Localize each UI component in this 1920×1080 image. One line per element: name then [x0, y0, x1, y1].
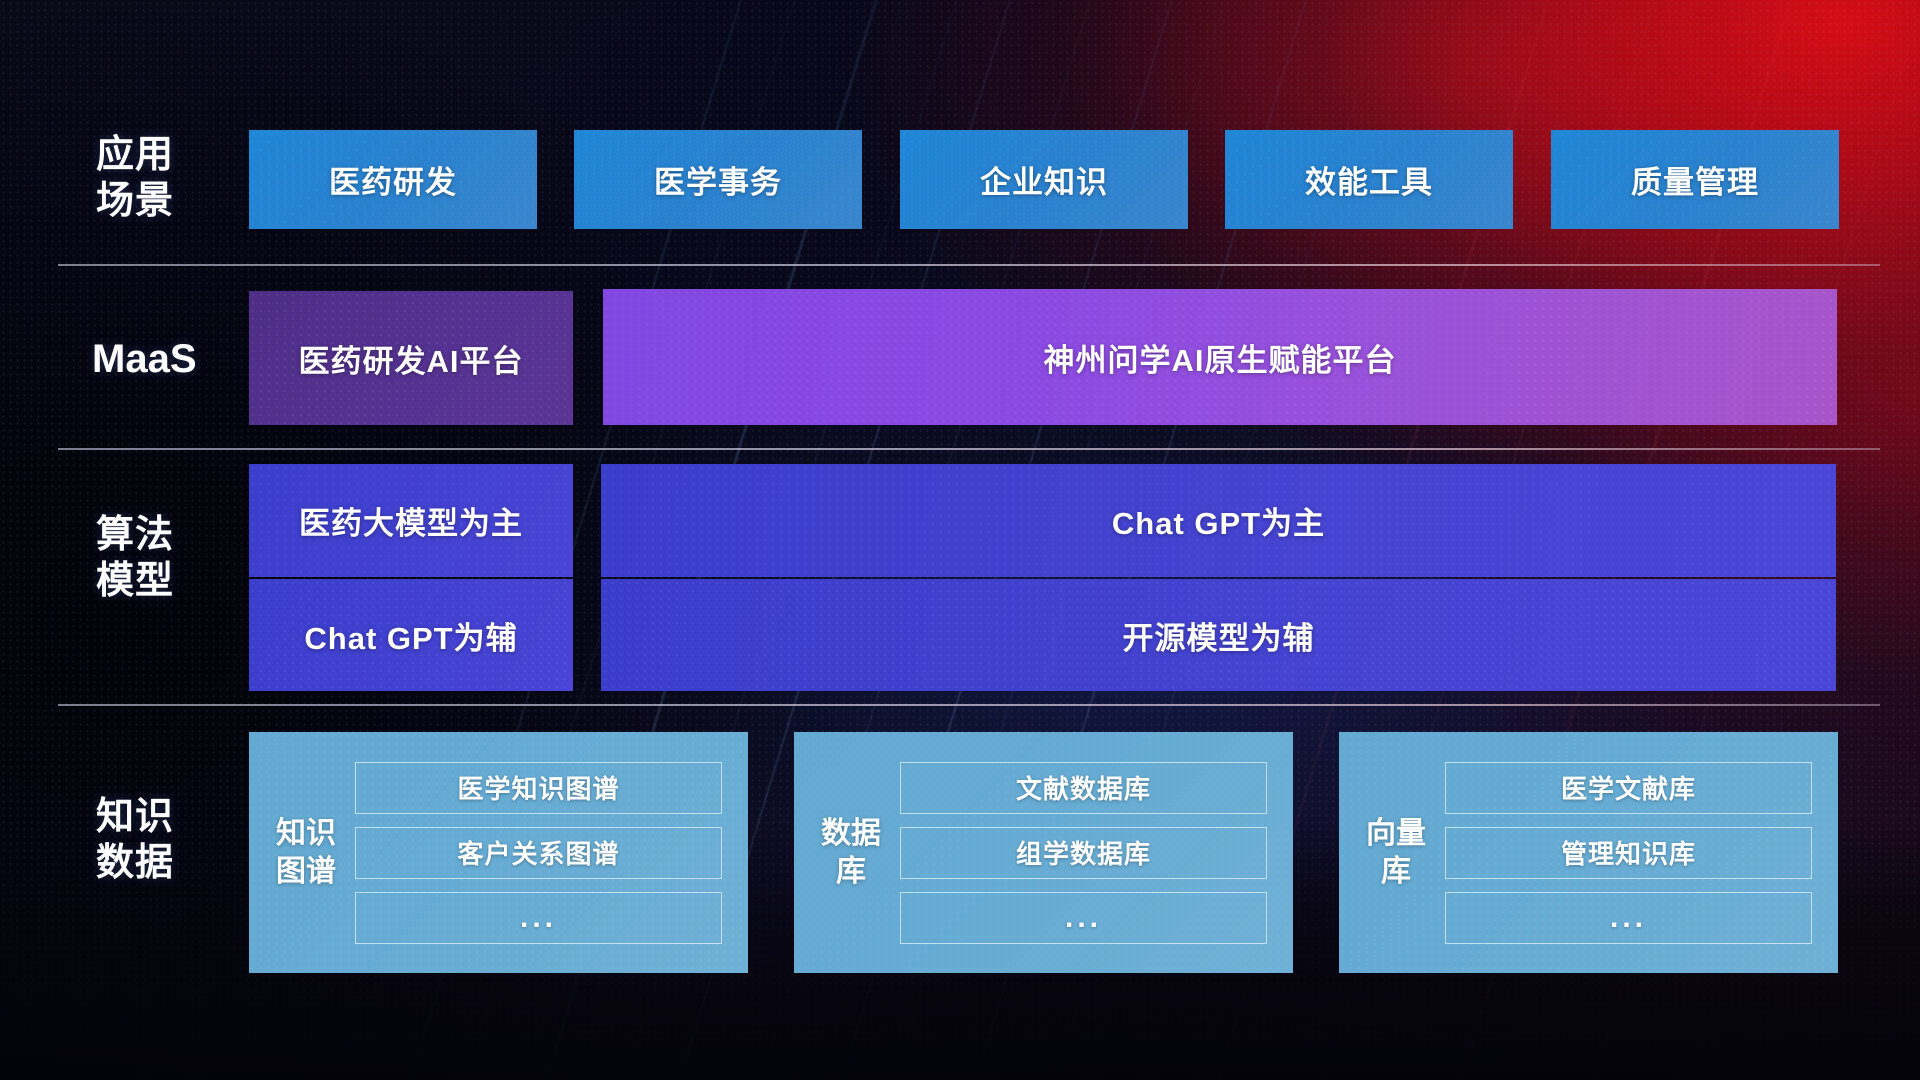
knowledge-item-more[interactable]: ...: [1445, 892, 1812, 944]
row-separator-3: [58, 704, 1880, 706]
app-card-medicine-rd[interactable]: 医药研发: [249, 130, 537, 229]
maas-card-label: 医药研发AI平台: [299, 336, 524, 381]
app-card-label: 医药研发: [329, 157, 457, 202]
knowledge-item-more[interactable]: ...: [900, 892, 1267, 944]
app-card-quality-management[interactable]: 质量管理: [1551, 130, 1839, 229]
knowledge-group-vector[interactable]: 向量库 医学文献库 管理知识库 ...: [1339, 732, 1838, 973]
algo-card-label: 医药大模型为主: [299, 498, 523, 543]
knowledge-item-label: 医学知识图谱: [457, 769, 619, 806]
knowledge-group-items: 文献数据库 组学数据库 ...: [882, 741, 1293, 965]
app-card-label: 质量管理: [1631, 157, 1759, 202]
knowledge-item-more[interactable]: ...: [355, 892, 722, 944]
app-card-medical-affairs[interactable]: 医学事务: [574, 130, 862, 229]
knowledge-item-label: 组学数据库: [1016, 834, 1151, 871]
knowledge-item-label: 管理知识库: [1561, 834, 1696, 871]
row-label-algorithm: 算法 模型: [96, 512, 236, 605]
app-card-enterprise-knowledge[interactable]: 企业知识: [900, 130, 1188, 229]
knowledge-group-graph[interactable]: 知识图谱 医学知识图谱 客户关系图谱 ...: [249, 732, 748, 973]
knowledge-item[interactable]: 文献数据库: [900, 762, 1267, 814]
algo-card-medicine-llm-primary[interactable]: 医药大模型为主: [249, 464, 573, 577]
row-label-application: 应用 场景: [96, 132, 236, 225]
row-label-maas: MaaS: [92, 335, 272, 384]
knowledge-item[interactable]: 组学数据库: [900, 827, 1267, 879]
maas-card-medicine-ai-platform[interactable]: 医药研发AI平台: [249, 291, 573, 425]
knowledge-item[interactable]: 管理知识库: [1445, 827, 1812, 879]
app-card-efficiency-tools[interactable]: 效能工具: [1225, 130, 1513, 229]
knowledge-item-label: ...: [1065, 901, 1102, 935]
knowledge-item[interactable]: 客户关系图谱: [355, 827, 722, 879]
knowledge-item-label: 医学文献库: [1561, 769, 1696, 806]
algo-card-label: Chat GPT为主: [1112, 498, 1325, 543]
knowledge-item-label: ...: [1610, 901, 1647, 935]
knowledge-item[interactable]: 医学文献库: [1445, 762, 1812, 814]
app-card-label: 医学事务: [654, 157, 782, 202]
knowledge-item-label: 文献数据库: [1016, 769, 1151, 806]
knowledge-group-database[interactable]: 数据库 文献数据库 组学数据库 ...: [794, 732, 1293, 973]
algo-card-label: Chat GPT为辅: [304, 613, 517, 658]
maas-card-shenzhou-wenxue-platform[interactable]: 神州问学AI原生赋能平台: [603, 289, 1837, 425]
knowledge-group-title: 知识图谱: [275, 815, 337, 891]
maas-card-label: 神州问学AI原生赋能平台: [1044, 335, 1397, 380]
knowledge-item-label: ...: [520, 901, 557, 935]
algo-card-label: 开源模型为辅: [1123, 613, 1315, 658]
algo-card-opensource-secondary[interactable]: 开源模型为辅: [601, 579, 1836, 691]
app-card-label: 效能工具: [1305, 157, 1433, 202]
knowledge-group-items: 医学文献库 管理知识库 ...: [1427, 741, 1838, 965]
knowledge-group-items: 医学知识图谱 客户关系图谱 ...: [337, 741, 748, 965]
row-label-knowledge: 知识 数据: [96, 794, 246, 887]
knowledge-group-title: 向量库: [1365, 815, 1427, 891]
algo-card-chatgpt-primary[interactable]: Chat GPT为主: [601, 464, 1836, 577]
row-separator-2: [58, 448, 1880, 450]
row-separator-1: [58, 264, 1880, 266]
knowledge-group-title: 数据库: [820, 815, 882, 891]
algo-card-chatgpt-secondary[interactable]: Chat GPT为辅: [249, 579, 573, 691]
knowledge-item[interactable]: 医学知识图谱: [355, 762, 722, 814]
app-card-label: 企业知识: [980, 157, 1108, 202]
knowledge-item-label: 客户关系图谱: [457, 834, 619, 871]
